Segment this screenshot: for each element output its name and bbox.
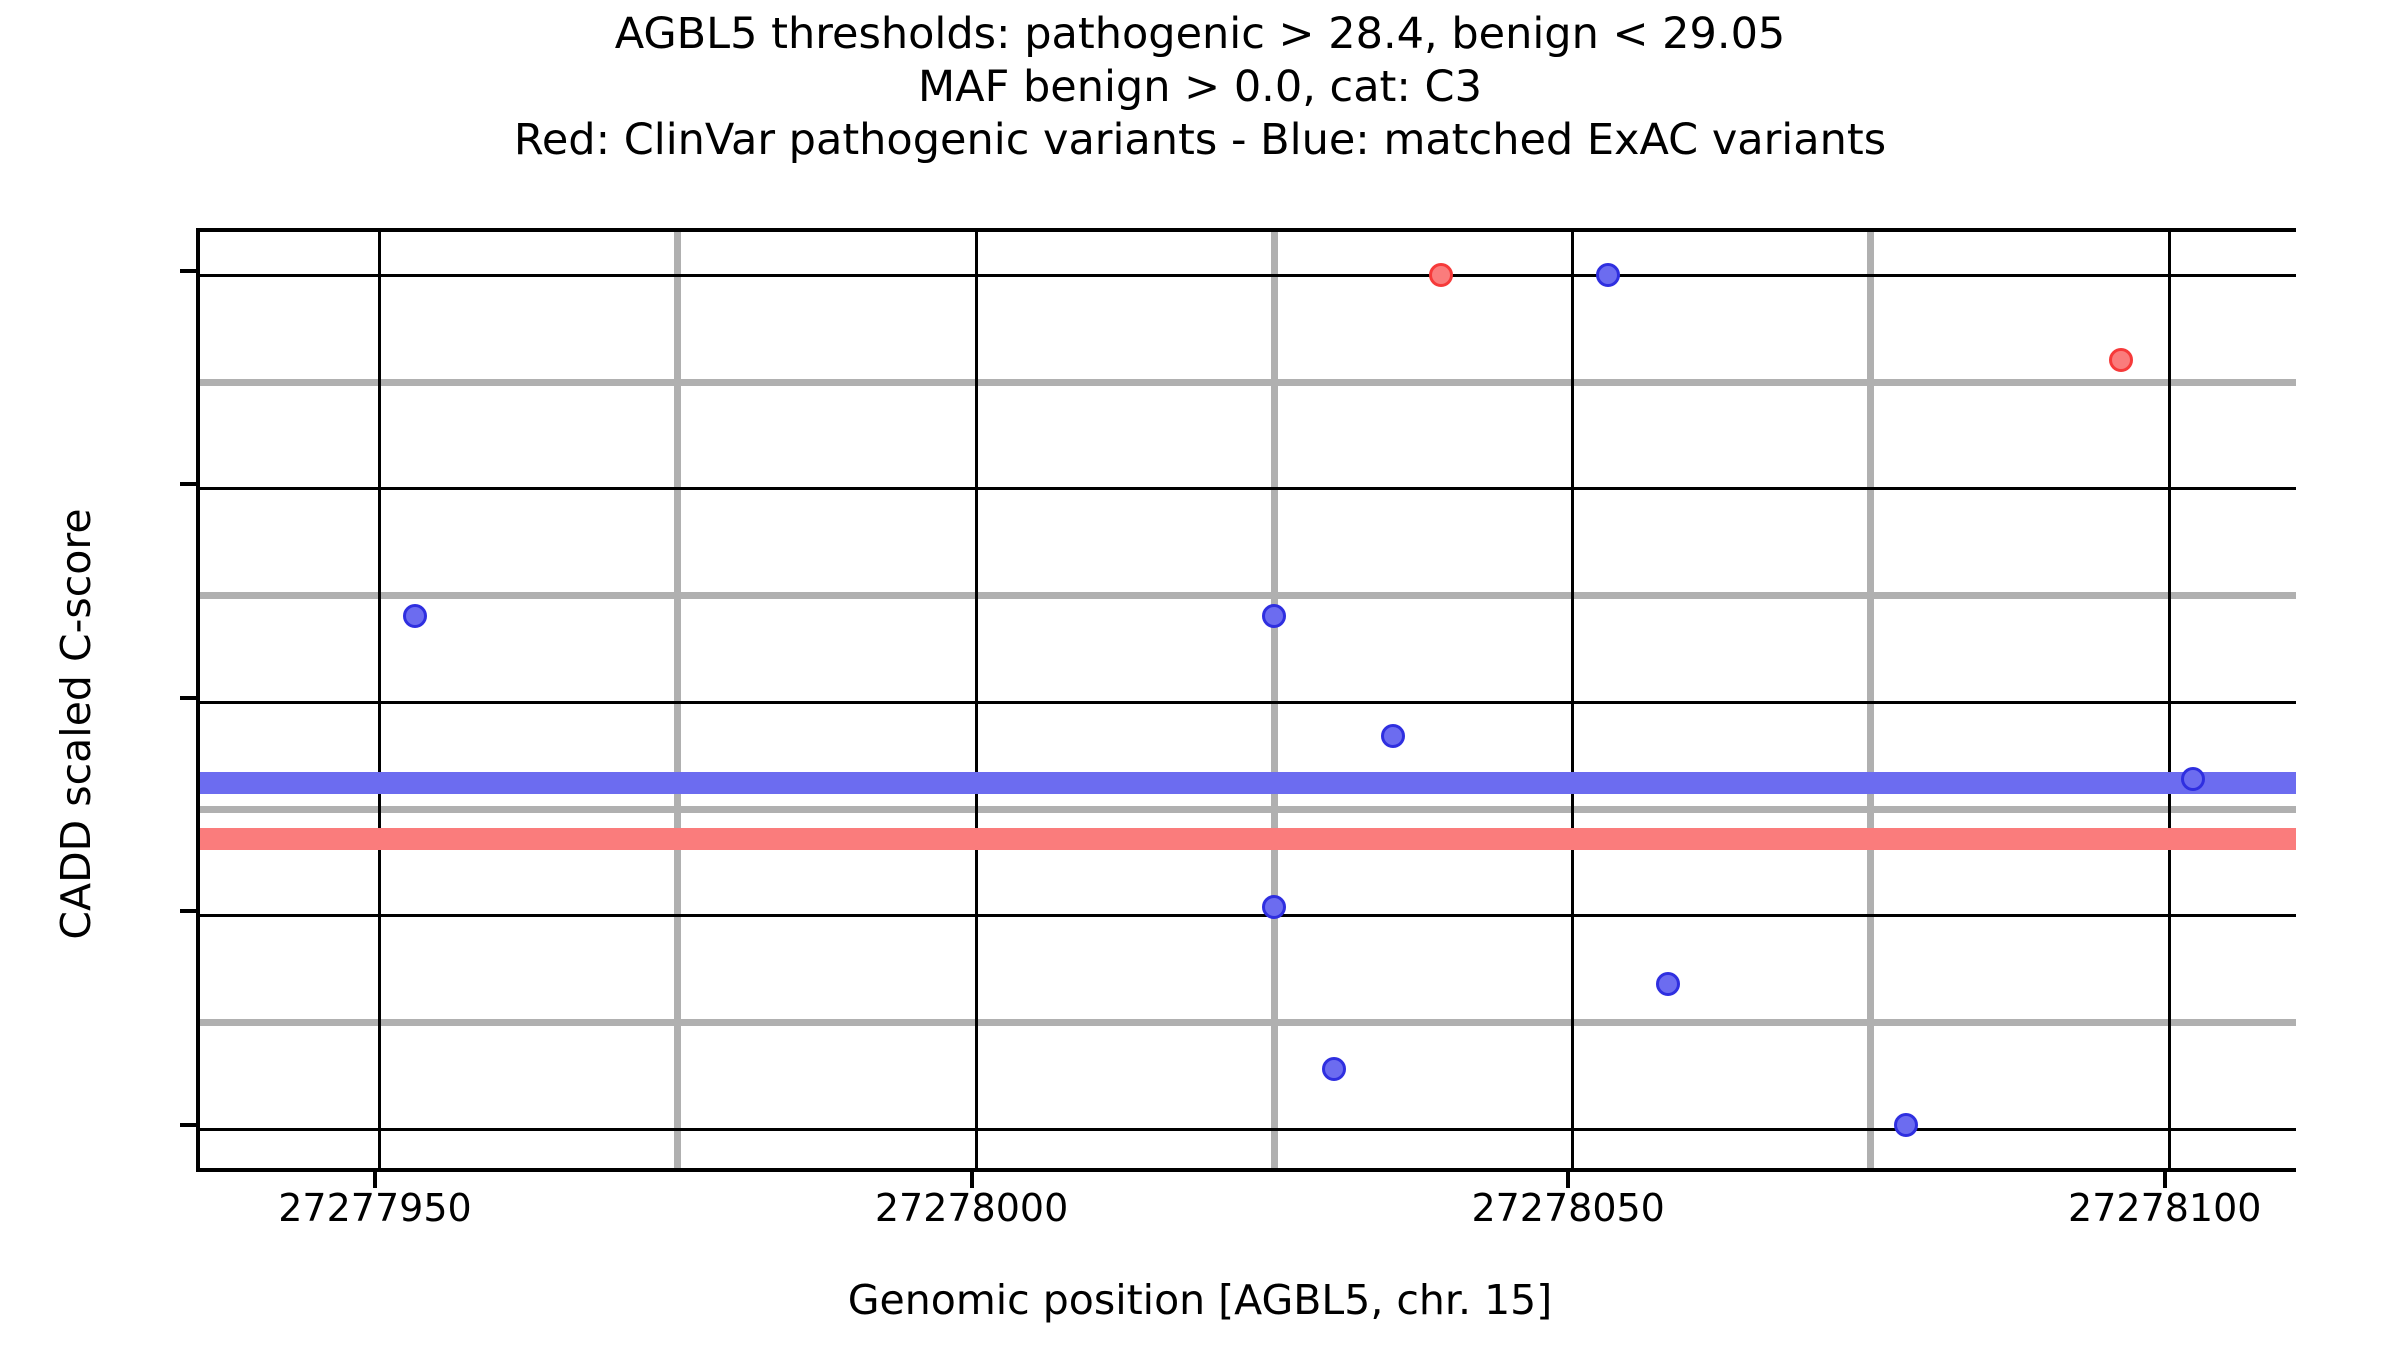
chart-title-line-3: Red: ClinVar pathogenic variants - Blue:… — [0, 114, 2400, 167]
gridline-horizontal-minor — [200, 806, 2296, 813]
threshold-line-benign-threshold — [200, 772, 2296, 794]
x-tick-mark — [1566, 1172, 1570, 1188]
chart-title-line-2: MAF benign > 0.0, cat: C3 — [0, 61, 2400, 114]
data-point-exac[interactable] — [1656, 972, 1680, 996]
x-tick-label: 27277950 — [278, 1186, 471, 1230]
chart-title-line-1: AGBL5 thresholds: pathogenic > 28.4, ben… — [0, 8, 2400, 61]
data-point-exac[interactable] — [403, 604, 427, 628]
x-tick-mark — [2163, 1172, 2167, 1188]
gridline-horizontal-minor — [200, 592, 2296, 599]
gridline-horizontal-major — [200, 914, 2296, 917]
x-tick-label: 27278050 — [1471, 1186, 1664, 1230]
data-point-clinvar[interactable] — [2109, 348, 2133, 372]
y-tick-mark — [180, 482, 196, 486]
gridline-horizontal-minor — [200, 379, 2296, 386]
data-point-exac[interactable] — [2181, 767, 2205, 791]
x-tick-label: 27278100 — [2068, 1186, 2261, 1230]
data-point-exac[interactable] — [1381, 724, 1405, 748]
gridline-vertical-major — [378, 232, 381, 1168]
gridline-vertical-major — [1571, 232, 1574, 1168]
gridline-horizontal-major — [200, 487, 2296, 490]
x-tick-mark — [970, 1172, 974, 1188]
data-point-exac[interactable] — [1894, 1113, 1918, 1137]
plot-canvas — [200, 232, 2296, 1168]
y-tick-mark — [180, 696, 196, 700]
gridline-vertical-major — [2168, 232, 2171, 1168]
y-tick-mark — [180, 269, 196, 273]
y-tick-mark — [180, 909, 196, 913]
threshold-line-pathogenic-threshold — [200, 828, 2296, 850]
x-axis-label: Genomic position [AGBL5, chr. 15] — [0, 1276, 2400, 1324]
plot-area — [196, 228, 2296, 1172]
gridline-horizontal-major — [200, 701, 2296, 704]
data-point-exac[interactable] — [1262, 895, 1286, 919]
data-point-clinvar[interactable] — [1429, 263, 1453, 287]
gridline-horizontal-major — [200, 1128, 2296, 1131]
x-tick-mark — [373, 1172, 377, 1188]
gridline-horizontal-major — [200, 274, 2296, 277]
x-tick-label: 27278000 — [875, 1186, 1068, 1230]
data-point-exac[interactable] — [1596, 263, 1620, 287]
data-point-exac[interactable] — [1262, 604, 1286, 628]
chart-title: AGBL5 thresholds: pathogenic > 28.4, ben… — [0, 8, 2400, 167]
gridline-horizontal-minor — [200, 1019, 2296, 1026]
data-point-exac[interactable] — [1322, 1057, 1346, 1081]
chart-figure: AGBL5 thresholds: pathogenic > 28.4, ben… — [0, 0, 2400, 1350]
y-axis-label: CADD scaled C-score — [52, 224, 100, 1224]
y-tick-mark — [180, 1123, 196, 1127]
gridline-vertical-major — [975, 232, 978, 1168]
